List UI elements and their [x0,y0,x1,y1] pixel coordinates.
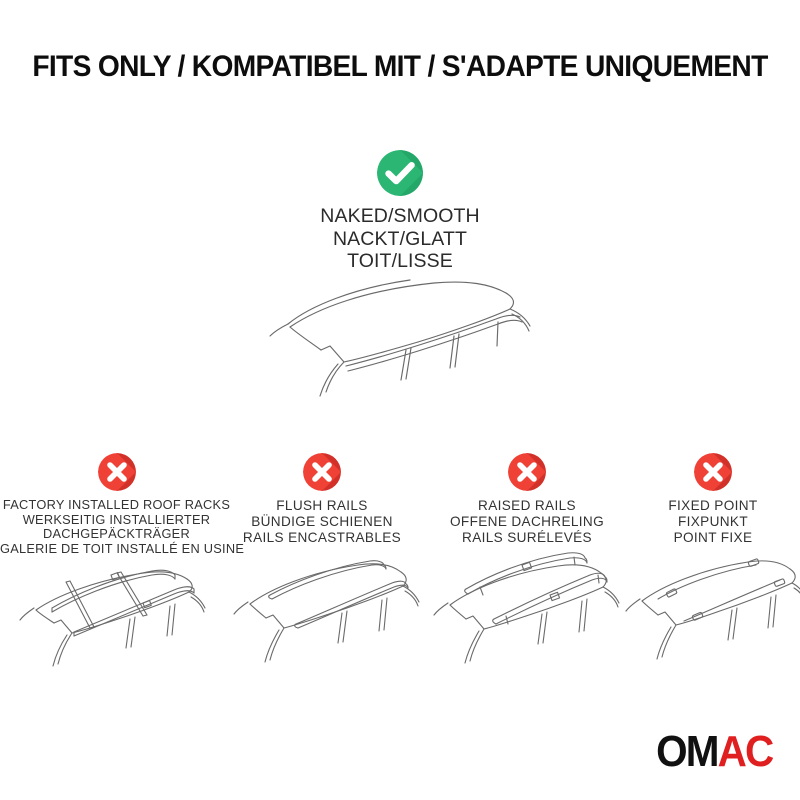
smooth-roof-illustration [258,276,548,404]
label-de-line1: WERKSEITIG INSTALLIERTER [0,513,233,528]
factory-roof-rack-illustration [12,548,217,688]
incompatible-labels: FLUSH RAILS BÜNDIGE SCHIENEN RAILS ENCAS… [222,498,422,545]
label-fr: TOIT/LISSE [250,250,550,273]
incompatible-panel-factory-roof-racks: FACTORY INSTALLED ROOF RACKS WERKSEITIG … [0,453,233,556]
cross-circle-icon [508,453,546,491]
label-en: FLUSH RAILS [222,498,422,514]
flush-rails-illustration [228,548,423,688]
page-title: FITS ONLY / KOMPATIBEL MIT / S'ADAPTE UN… [0,50,800,84]
compatible-status-badge [250,150,550,196]
page-title-text: FITS ONLY / KOMPATIBEL MIT / S'ADAPTE UN… [32,50,767,84]
incompatible-labels: FIXED POINT FIXPUNKT POINT FIXE [627,498,799,545]
cross-circle-icon [694,453,732,491]
label-de-line2: DACHGEPÄCKTRÄGER [0,527,233,542]
logo-text-ac: AC [717,727,772,776]
cross-circle-icon [303,453,341,491]
label-en: FIXED POINT [627,498,799,514]
raised-rails-illustration [428,543,623,688]
label-de: BÜNDIGE SCHIENEN [222,514,422,530]
fixed-point-illustration [622,543,800,688]
label-en: NAKED/SMOOTH [250,205,550,228]
not-allowed-status-badge [222,453,422,491]
compatible-roof-panel: NAKED/SMOOTH NACKT/GLATT TOIT/LISSE [250,150,550,273]
label-en: FACTORY INSTALLED ROOF RACKS [0,498,233,513]
logo-text-om: OM [656,727,718,776]
not-allowed-status-badge [627,453,799,491]
incompatible-panel-flush-rails: FLUSH RAILS BÜNDIGE SCHIENEN RAILS ENCAS… [222,453,422,545]
cross-circle-icon [98,453,136,491]
compatible-roof-labels: NAKED/SMOOTH NACKT/GLATT TOIT/LISSE [250,205,550,273]
label-de: NACKT/GLATT [250,228,550,251]
not-allowed-status-badge [421,453,633,491]
incompatible-labels: RAISED RAILS OFFENE DACHRELING RAILS SUR… [421,498,633,545]
label-en: RAISED RAILS [421,498,633,514]
check-circle-icon [377,150,423,196]
omac-logo: OMAC [656,730,772,774]
incompatible-panel-fixed-point: FIXED POINT FIXPUNKT POINT FIXE [627,453,799,545]
label-de: OFFENE DACHRELING [421,514,633,530]
not-allowed-status-badge [0,453,233,491]
incompatible-panel-raised-rails: RAISED RAILS OFFENE DACHRELING RAILS SUR… [421,453,633,545]
label-fr: RAILS ENCASTRABLES [222,530,422,546]
label-de: FIXPUNKT [627,514,799,530]
